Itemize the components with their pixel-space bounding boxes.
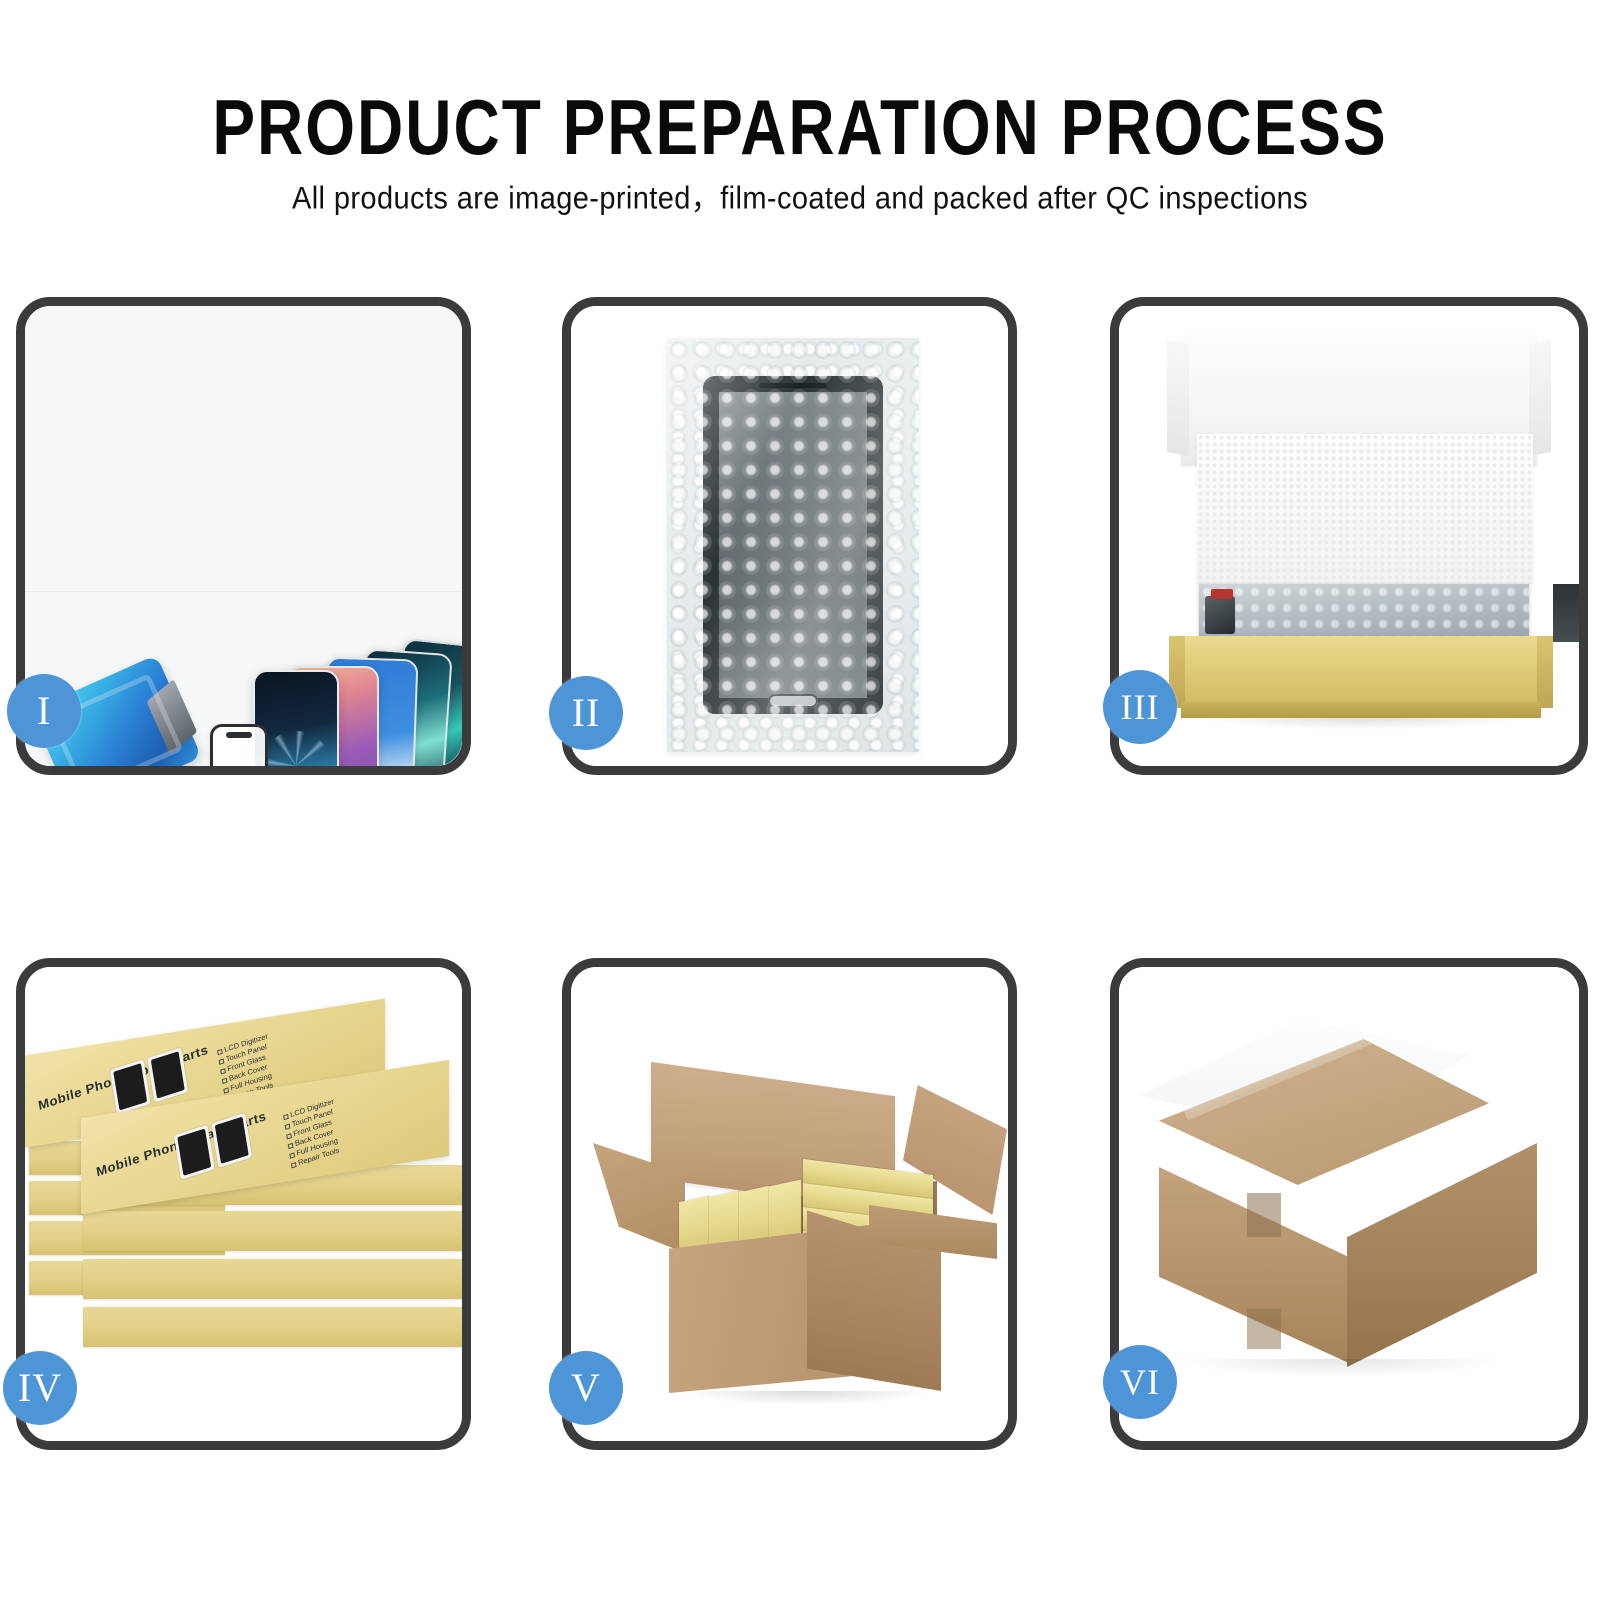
header: PRODUCT PREPARATION PROCESS All products… — [0, 0, 1600, 270]
drop-shadow — [1197, 718, 1527, 730]
stacked-box-layer — [83, 1259, 462, 1299]
step-image-bubble-wrapped-screen — [571, 306, 1008, 766]
stacked-box-layer — [83, 1211, 462, 1251]
step-badge-3: III — [1103, 670, 1177, 744]
step-badge-2: II — [549, 676, 623, 750]
step-panel-6: VI — [1110, 958, 1588, 1450]
screen-edge — [1553, 584, 1579, 642]
page-title: PRODUCT PREPARATION PROCESS — [0, 82, 1600, 172]
screen-thumb — [110, 1059, 151, 1114]
screen-connector — [1205, 596, 1235, 634]
crack-pattern — [261, 731, 331, 766]
step-badge-6: VI — [1103, 1345, 1177, 1419]
film-sheen — [667, 338, 919, 752]
drop-shadow — [1179, 1359, 1499, 1377]
box-label-checklist: LCD Digitizer Touch Panel Front Glass Ba… — [283, 1097, 343, 1171]
step-panel-2: II — [562, 297, 1017, 775]
box-label-screens — [174, 1113, 252, 1180]
step-badge-1: I — [7, 674, 81, 748]
step-image-open-mailer-box — [1119, 306, 1579, 766]
step-panel-1: 08:08 Tue Mar 3 I — [16, 297, 471, 775]
drop-shadow — [681, 1391, 931, 1405]
step-image-sealed-master-carton — [1119, 967, 1579, 1441]
step-image-open-master-carton — [571, 967, 1008, 1441]
step-badge-4: IV — [3, 1351, 77, 1425]
foam-insert — [1197, 434, 1533, 584]
kraft-box-tray — [1181, 636, 1541, 708]
front-glass-panel — [210, 724, 268, 766]
step-panel-4: Mobile Phone Spare Parts LCD Digitizer T… — [16, 958, 471, 1450]
bubble-wrap-sheet — [667, 338, 919, 752]
step-image-stacked-retail-boxes: Mobile Phone Spare Parts LCD Digitizer T… — [25, 967, 462, 1441]
tape-seam-lower — [1247, 1309, 1281, 1349]
page-subtitle: All products are image-printed，film-coat… — [0, 172, 1600, 218]
stacked-box-layer — [83, 1307, 462, 1347]
step-image-parts-collage: 08:08 Tue Mar 3 — [25, 306, 462, 766]
screen-thumb — [174, 1125, 215, 1180]
tape-seam-upper — [1247, 1193, 1281, 1237]
step-panel-5: V — [562, 958, 1017, 1450]
screen-thumb — [211, 1113, 252, 1168]
step-panel-3: III — [1110, 297, 1588, 775]
step-badge-5: V — [549, 1351, 623, 1425]
wrapped-screen-in-box — [1199, 584, 1529, 642]
kraft-box-front-wall — [1181, 702, 1541, 718]
screen-thumb — [147, 1047, 188, 1102]
red-marker-tape — [1211, 589, 1233, 599]
